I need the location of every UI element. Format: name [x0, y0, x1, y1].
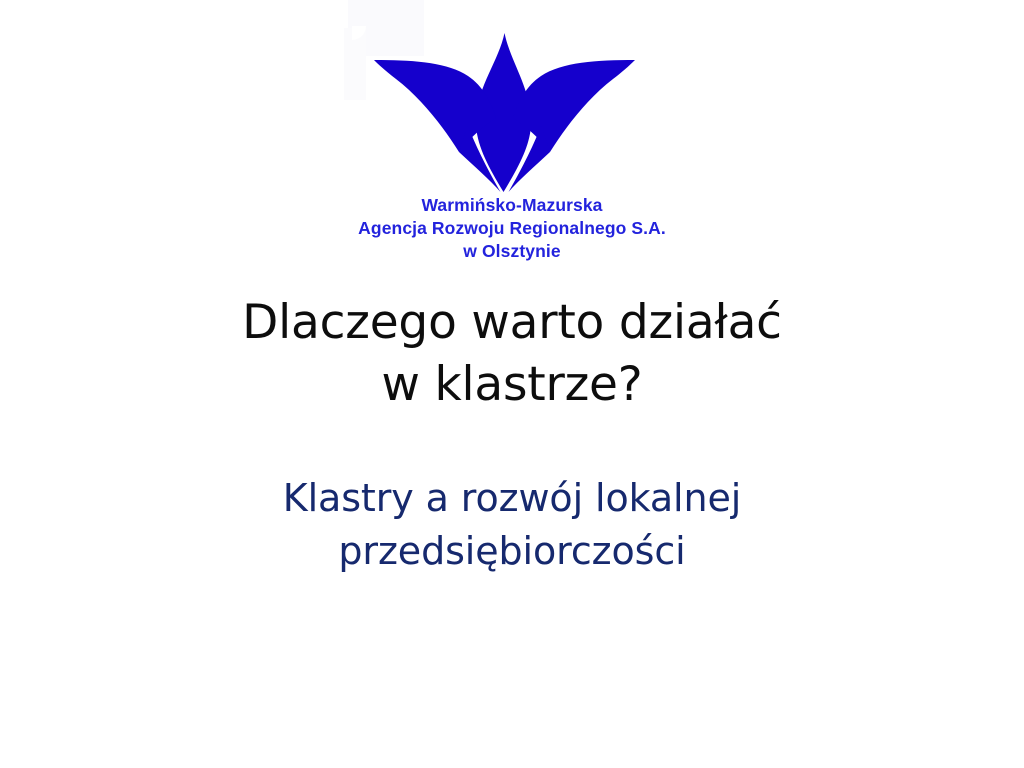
- slide-subtitle-line-2: przedsiębiorczości: [0, 525, 1024, 578]
- slide-title-line-1: Dlaczego warto działać: [0, 292, 1024, 354]
- logo-wordmark-line-2: Agencja Rozwoju Regionalnego S.A.: [0, 217, 1024, 240]
- logo-wordmark-line-3: w Olsztynie: [0, 240, 1024, 263]
- flower-logo-icon: [352, 0, 672, 200]
- left-petal: [374, 60, 496, 152]
- right-petal: [513, 60, 635, 152]
- presentation-slide: Warmińsko-Mazurska Agencja Rozwoju Regio…: [0, 0, 1024, 768]
- slide-subtitle: Klastry a rozwój lokalnej przedsiębiorcz…: [0, 472, 1024, 578]
- organization-logo: Warmińsko-Mazurska Agencja Rozwoju Regio…: [0, 0, 1024, 262]
- logo-wordmark: Warmińsko-Mazurska Agencja Rozwoju Regio…: [0, 194, 1024, 262]
- logo-wordmark-line-1: Warmińsko-Mazurska: [0, 194, 1024, 217]
- slide-title: Dlaczego warto działać w klastrze?: [0, 292, 1024, 416]
- slide-title-line-2: w klastrze?: [0, 354, 1024, 416]
- slide-subtitle-line-1: Klastry a rozwój lokalnej: [0, 472, 1024, 525]
